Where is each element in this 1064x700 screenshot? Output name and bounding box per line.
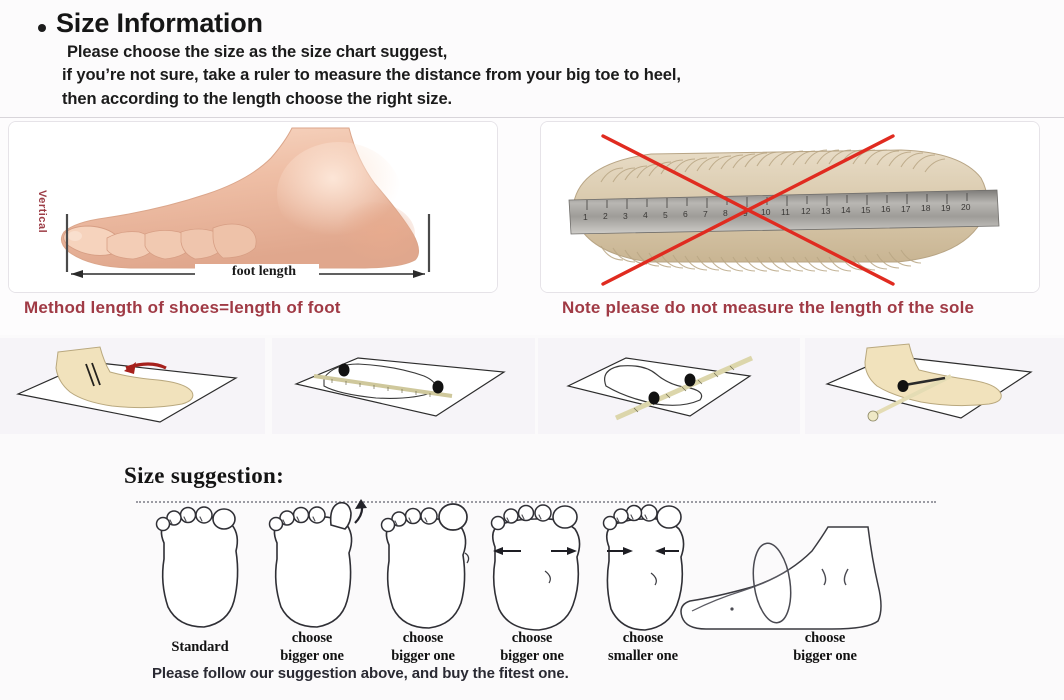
footprint-label-5: choose smaller one xyxy=(580,630,706,665)
bullet-icon xyxy=(38,24,46,32)
footer-note: Please follow our suggestion above, and … xyxy=(152,665,569,682)
footprint-big-toe-icon xyxy=(365,495,485,645)
right-caption: Note please do not measure the length of… xyxy=(562,298,974,318)
method-step-1-panel xyxy=(0,338,265,434)
measure-method-band: foot length Vertical xyxy=(0,117,1064,335)
svg-text:6: 6 xyxy=(683,209,688,219)
header-description: Please choose the size as the size chart… xyxy=(0,41,1064,111)
svg-text:19: 19 xyxy=(941,203,951,213)
svg-text:1: 1 xyxy=(583,212,588,222)
foot-length-label: foot length xyxy=(204,264,324,280)
header: Size Information Please choose the size … xyxy=(0,0,1064,117)
size-suggestion-title: Size suggestion: xyxy=(124,463,284,489)
footprint-label-1: Standard xyxy=(140,639,260,657)
method-step-2-panel xyxy=(272,338,535,434)
footprint-long-toe-icon xyxy=(253,495,373,645)
step1-foot-on-paper-icon xyxy=(0,338,265,434)
step3-ruler-measure-icon xyxy=(538,338,800,434)
page-title-row: Size Information xyxy=(0,0,1064,39)
svg-text:8: 8 xyxy=(723,208,728,218)
svg-text:5: 5 xyxy=(663,210,668,220)
size-information-page: Size Information Please choose the size … xyxy=(0,0,1064,700)
svg-text:14: 14 xyxy=(841,205,851,215)
method-step-3-panel xyxy=(538,338,800,434)
svg-text:7: 7 xyxy=(703,209,708,219)
foot-length-photo-panel: foot length xyxy=(8,121,498,293)
svg-text:4: 4 xyxy=(643,210,648,220)
svg-text:13: 13 xyxy=(821,206,831,216)
svg-text:2: 2 xyxy=(603,211,608,221)
svg-text:18: 18 xyxy=(921,203,931,213)
svg-text:16: 16 xyxy=(881,204,891,214)
footprint-label-3: choose bigger one xyxy=(363,630,483,665)
footprint-standard xyxy=(140,495,260,655)
method-step-4-panel xyxy=(805,338,1064,434)
left-caption: Method length of shoes=length of foot xyxy=(24,298,341,318)
sole-photo-panel: 123 456 789 101112 131415 161718 1920 xyxy=(540,121,1040,293)
vertical-label: Vertical xyxy=(36,190,48,233)
header-line-2: if you’re not sure, take a ruler to meas… xyxy=(62,64,1064,87)
header-line-3: then according to the length choose the … xyxy=(62,88,1064,111)
sole-with-ruler-illustration: 123 456 789 101112 131415 161718 1920 xyxy=(541,122,1040,293)
footprint-wide-icon xyxy=(475,495,595,645)
svg-text:3: 3 xyxy=(623,211,628,221)
step4-measure-foot-icon xyxy=(805,338,1064,434)
header-line-1: Please choose the size as the size chart… xyxy=(62,41,1064,64)
svg-text:12: 12 xyxy=(801,206,811,216)
footprint-label-4: choose bigger one xyxy=(472,630,592,665)
step2-outline-marks-icon xyxy=(272,338,535,434)
footprint-label-2: choose bigger one xyxy=(252,630,372,665)
svg-text:20: 20 xyxy=(961,202,971,212)
svg-text:11: 11 xyxy=(781,207,790,217)
svg-text:17: 17 xyxy=(901,204,911,214)
page-title: Size Information xyxy=(56,8,263,39)
footprint-label-6: choose bigger one xyxy=(760,630,890,665)
svg-text:15: 15 xyxy=(861,205,871,215)
method-steps-row xyxy=(0,338,1064,434)
footprint-standard-icon xyxy=(140,495,260,645)
